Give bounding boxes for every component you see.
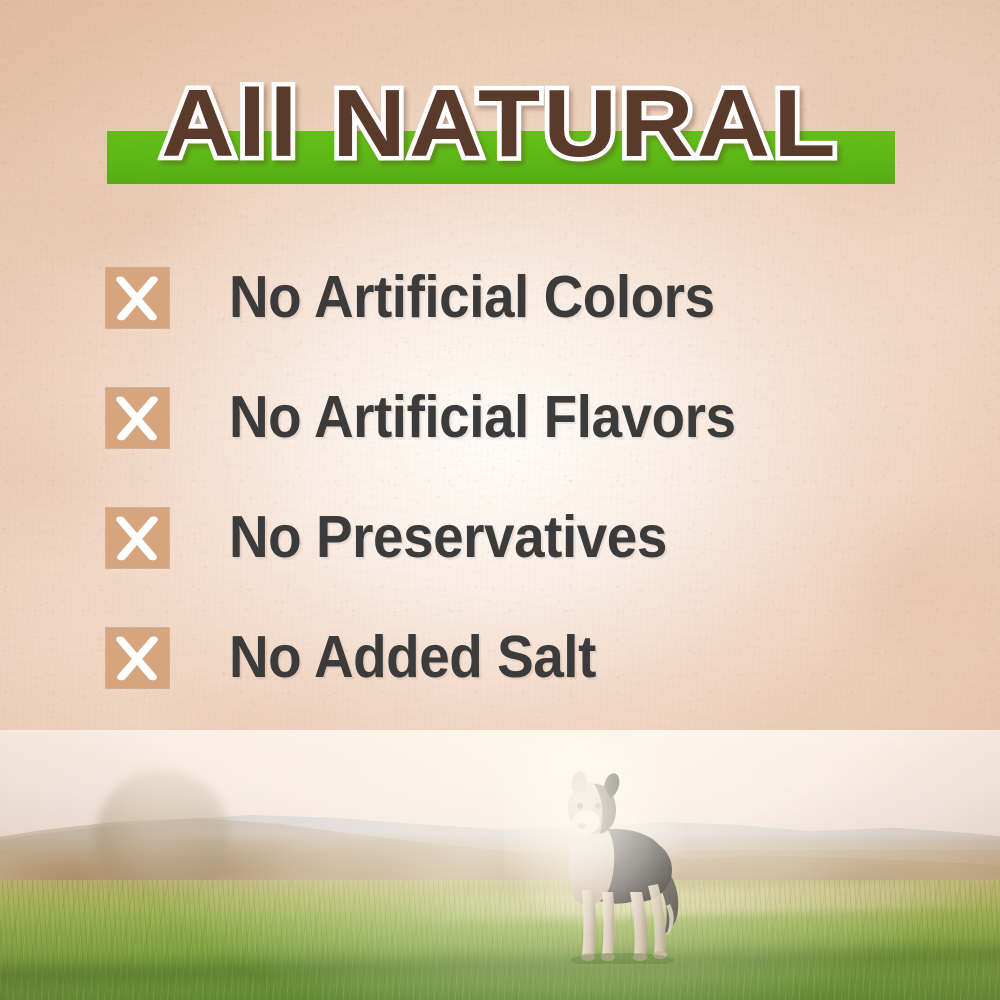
- x-mark-icon: [106, 628, 169, 688]
- page-title: All NATURAL: [0, 76, 1000, 172]
- grass-field: [0, 880, 1000, 1000]
- dog-photo: [530, 764, 700, 964]
- x-mark-icon: [106, 508, 169, 568]
- list-item-label: No Artificial Flavors: [229, 382, 736, 452]
- list-item: No Preservatives: [106, 502, 946, 622]
- list-item-label: No Added Salt: [229, 622, 596, 692]
- list-item-label: No Preservatives: [229, 502, 667, 572]
- list-item: No Added Salt: [106, 622, 946, 742]
- x-mark-icon: [106, 268, 169, 328]
- list-item: No Artificial Colors: [106, 262, 946, 382]
- x-mark-icon: [106, 388, 169, 448]
- list-item: No Artificial Flavors: [106, 382, 946, 502]
- landscape-photo: [0, 730, 1000, 1000]
- all-natural-product-poster: All NATURAL No Artificial Colors No Arti…: [0, 0, 1000, 1000]
- benefits-checklist: No Artificial Colors No Artificial Flavo…: [106, 262, 946, 742]
- list-item-label: No Artificial Colors: [229, 262, 715, 332]
